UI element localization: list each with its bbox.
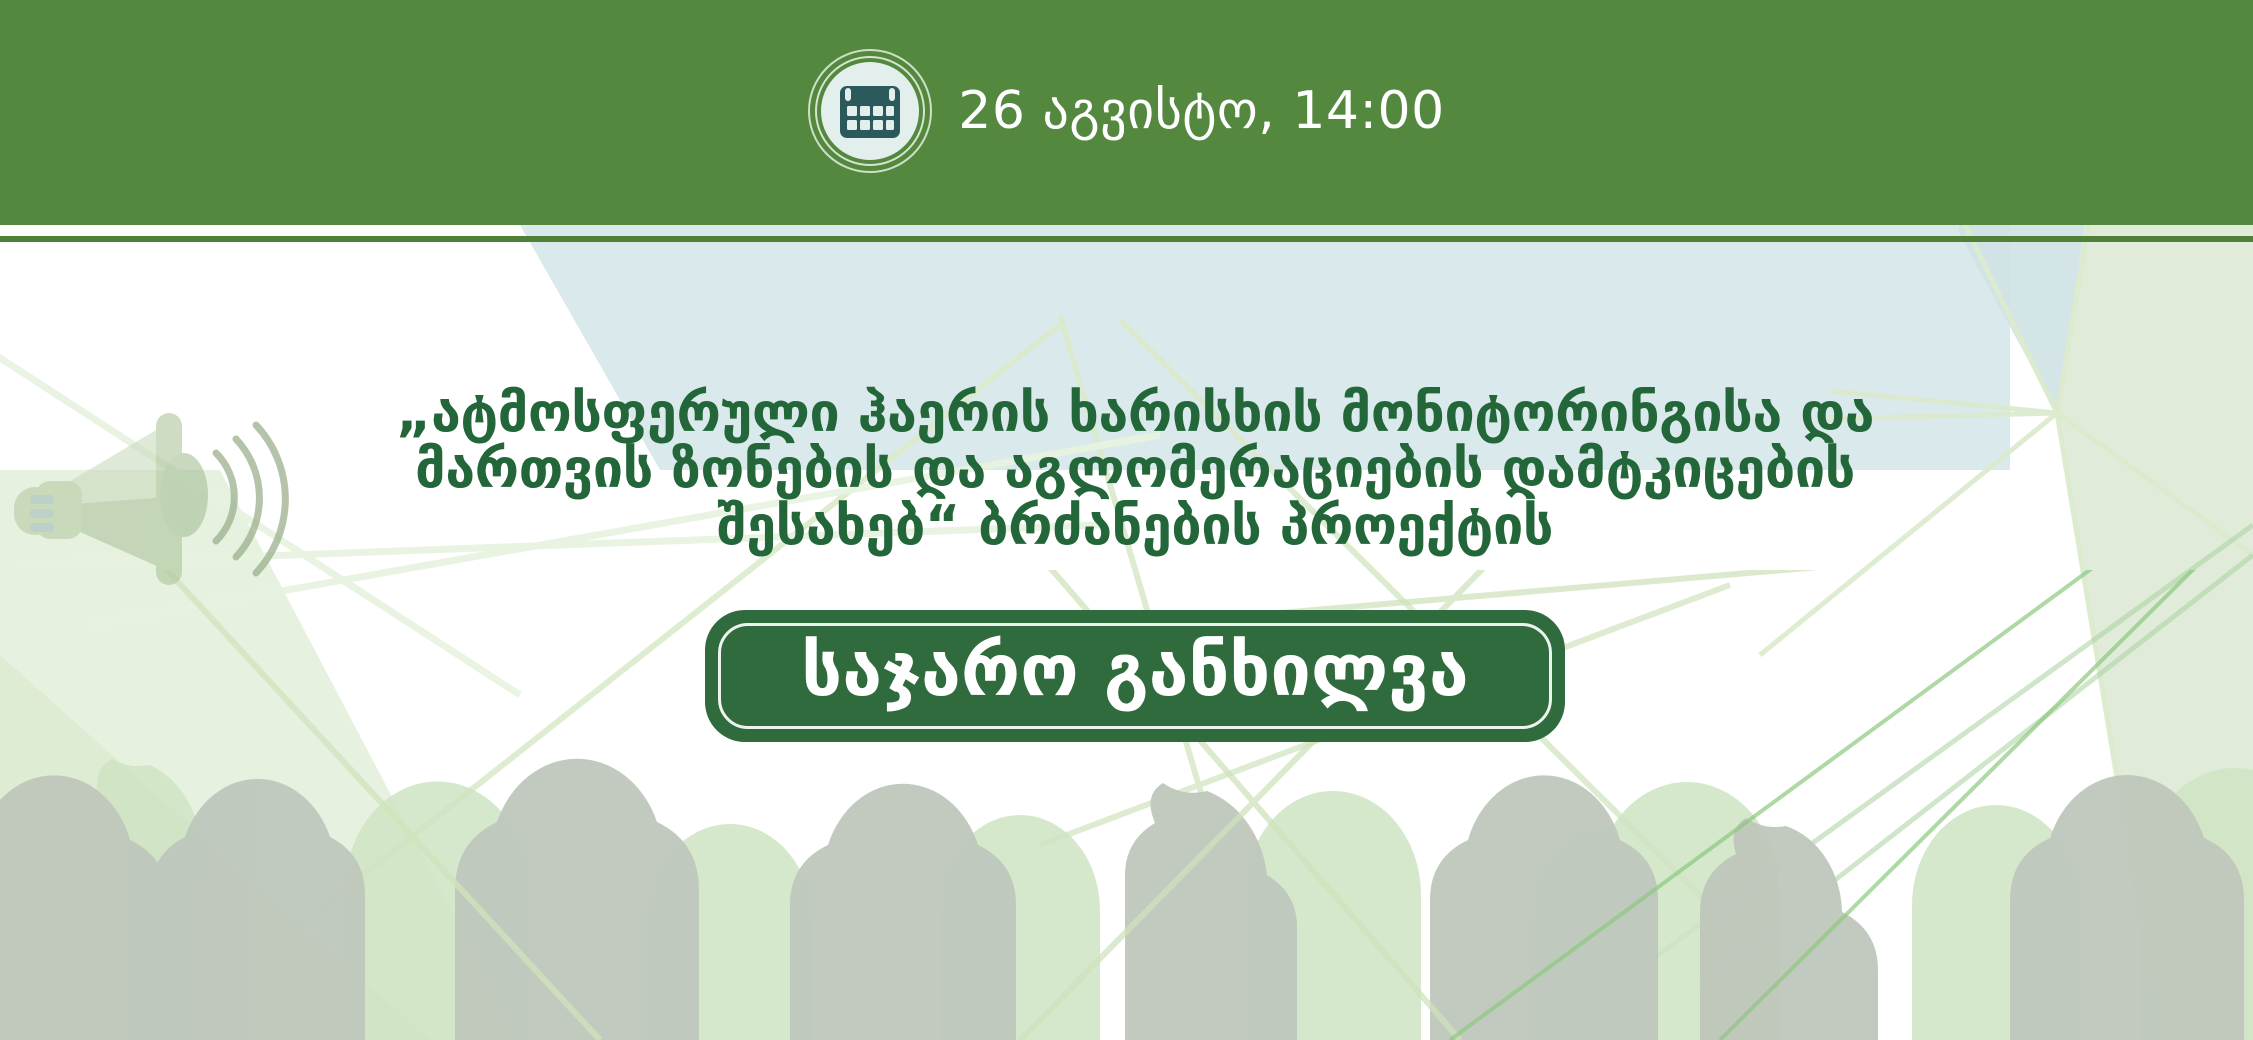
calendar-glyph bbox=[836, 79, 904, 143]
cta-container: საჯარო განხილვა bbox=[305, 610, 1965, 742]
project-title-line-2: მართვის ზონების და აგლომერაციების დამტკი… bbox=[305, 441, 1965, 497]
megaphone-icon bbox=[8, 395, 308, 610]
event-datetime-text: 26 აგვისტო, 14:00 bbox=[958, 85, 1444, 137]
header-date-group: 26 აგვისტო, 14:00 bbox=[808, 49, 1444, 173]
project-title: „ატმოსფერული ჰაერის ხარისხის მონიტორინგი… bbox=[305, 385, 1965, 554]
project-title-line-1: „ატმოსფერული ჰაერის ხარისხის მონიტორინგი… bbox=[305, 385, 1965, 441]
calendar-icon bbox=[808, 49, 932, 173]
cta-label: საჯარო განხილვა bbox=[801, 634, 1468, 706]
header-divider-rule bbox=[0, 236, 2253, 242]
announcement-content: „ატმოსფერული ჰაერის ხარისხის მონიტორინგი… bbox=[0, 225, 2253, 1040]
project-title-line-3: შესახებ“ ბრძანების პროექტის bbox=[305, 498, 1965, 554]
public-discussion-button[interactable]: საჯარო განხილვა bbox=[705, 610, 1565, 742]
header-bar: 26 აგვისტო, 14:00 bbox=[0, 0, 2253, 225]
calendar-badge-disc bbox=[821, 62, 919, 160]
event-announcement-banner: 26 აგვისტო, 14:00 bbox=[0, 0, 2253, 1040]
